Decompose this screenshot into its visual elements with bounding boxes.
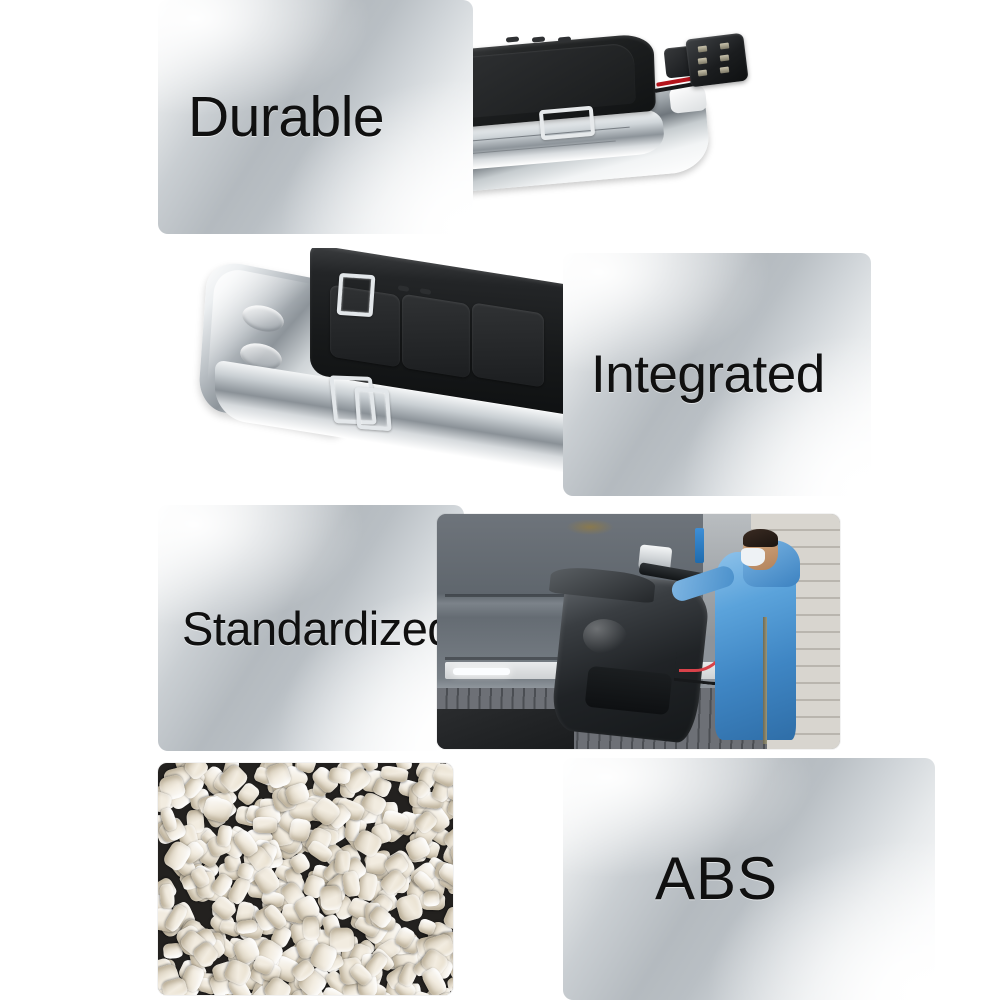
- feature-label-integrated: Integrated: [591, 348, 825, 401]
- feature-row-durable: Durable: [0, 0, 1000, 240]
- spray-paint-booth-photo: [437, 514, 840, 749]
- plastic-pellet: [253, 817, 277, 833]
- feature-label-durable: Durable: [188, 89, 384, 146]
- bumper-grille: [584, 666, 672, 716]
- feature-row-standardized: Standardized: [0, 505, 1000, 755]
- wiring-connector-plug: [685, 33, 748, 88]
- feature-label-standardized: Standardized: [182, 605, 453, 652]
- connector-pin: [720, 54, 730, 61]
- feature-plate-integrated: Integrated: [563, 253, 871, 496]
- connector-pin: [698, 57, 708, 64]
- connector-pin: [720, 42, 730, 49]
- pellet-field: [158, 763, 453, 995]
- booth-dark-corner: [437, 709, 574, 749]
- connector-pin: [698, 69, 708, 76]
- plastic-pellet: [159, 883, 175, 908]
- feature-row-abs: ABS: [0, 758, 1000, 1000]
- mounting-clip: [337, 273, 376, 317]
- plastic-pellet: [319, 885, 342, 911]
- housing-nub: [506, 36, 519, 42]
- chrome-mirror-turn-signal-photo: [420, 0, 840, 230]
- booth-wall-stain: [566, 519, 614, 535]
- worker-hair: [743, 529, 777, 548]
- plastic-pellet: [448, 785, 453, 800]
- blue-pipe: [695, 528, 704, 563]
- housing-panel: [402, 294, 470, 379]
- mounting-clip: [539, 106, 595, 141]
- abs-plastic-pellets-photo: [158, 763, 453, 995]
- support-pole: [763, 617, 768, 744]
- connector-pin: [720, 66, 730, 73]
- booth-lamp: [453, 668, 509, 675]
- infographic-canvas: Durable Integrated Standardized: [0, 0, 1000, 1000]
- feature-plate-durable: Durable: [158, 0, 473, 234]
- plastic-pellet: [423, 891, 440, 907]
- feature-label-abs: ABS: [655, 849, 778, 909]
- chrome-mirror-side-profile-photo: [180, 248, 580, 496]
- paint-booth-scene: [437, 514, 840, 749]
- feature-plate-standardized: Standardized: [158, 505, 464, 751]
- worker-face-mask: [741, 548, 765, 566]
- feature-row-integrated: Integrated: [0, 248, 1000, 500]
- housing-panel: [472, 302, 544, 387]
- plastic-pellet: [236, 919, 257, 935]
- plastic-pellet: [303, 916, 321, 940]
- mounting-clip: [354, 387, 391, 431]
- connector-pin: [698, 45, 708, 52]
- feature-plate-abs: ABS: [563, 758, 935, 1000]
